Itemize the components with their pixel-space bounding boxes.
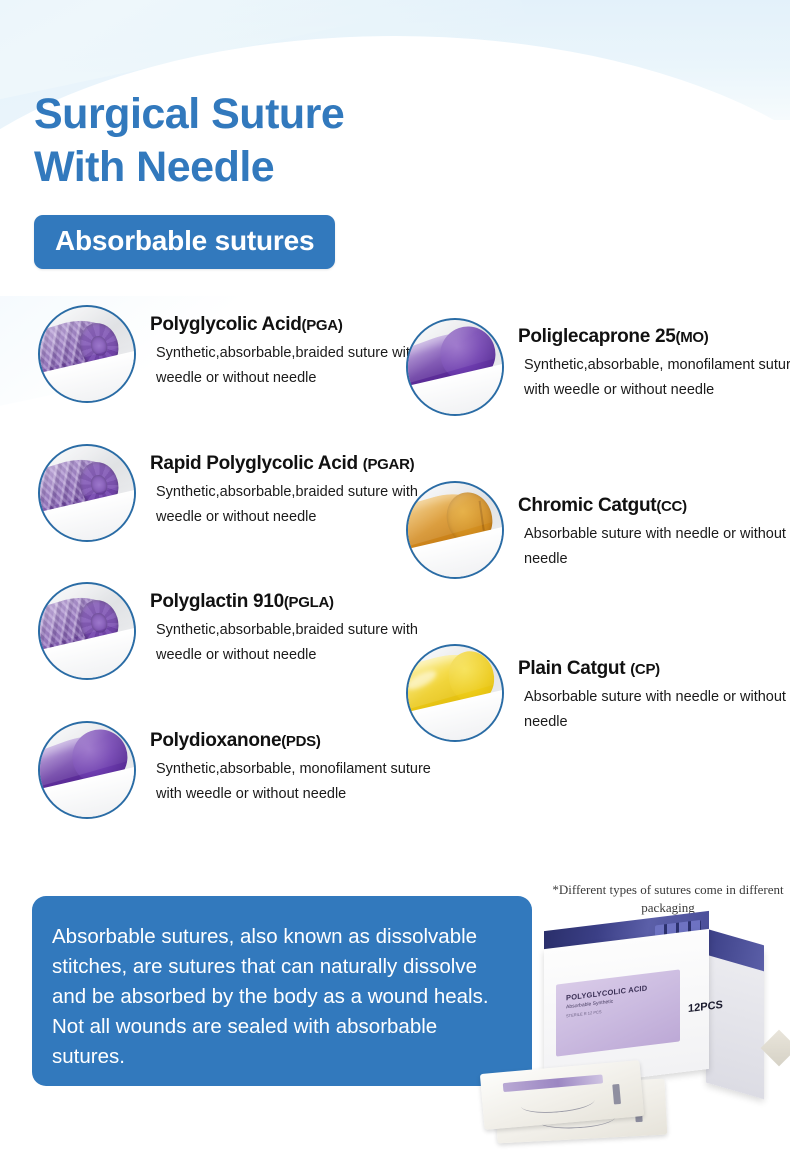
product-name: Chromic Catgut(CC) [518, 495, 687, 517]
page-title-line-2: With Needle [34, 141, 574, 194]
monofilament-purple-suture-icon [38, 721, 136, 819]
product-name: Rapid Polyglycolic Acid (PGAR) [150, 453, 414, 475]
product-description: Synthetic,absorbable,braided suture with… [156, 618, 456, 668]
summary-panel: Absorbable sutures, also known as dissol… [32, 896, 532, 1086]
page-title: Surgical Suture With Needle [34, 88, 574, 194]
plain-catgut-suture-icon [406, 644, 504, 742]
product-name: Polyglycolic Acid(PGA) [150, 314, 343, 336]
product-name: Plain Catgut (CP) [518, 658, 660, 680]
product-description: Synthetic,absorbable, monofilament sutur… [156, 757, 456, 807]
page-title-line-1: Surgical Suture [34, 88, 574, 141]
product-name: Poliglecaprone 25(MO) [518, 326, 708, 348]
product-name: Polydioxanone(PDS) [150, 730, 321, 752]
section-badge-absorbable-sutures: Absorbable sutures [34, 215, 335, 269]
product-description: Absorbable suture with needle or without… [524, 522, 790, 572]
monofilament-purple-suture-icon [406, 318, 504, 416]
infographic-page: Surgical Suture With Needle Absorbable s… [0, 0, 790, 1160]
box-label: POLYGLYCOLIC ACID Absorbable Synthetic S… [556, 969, 680, 1056]
braided-purple-suture-icon [38, 444, 136, 542]
box-label-details: STERILE R 12 PCS [566, 1009, 602, 1018]
product-description: Absorbable suture with needle or without… [524, 685, 790, 735]
page-corner-fold [761, 1030, 790, 1067]
product-description: Synthetic,absorbable, monofilament sutur… [524, 353, 790, 403]
packaging-photo: POLYGLYCOLIC ACID Absorbable Synthetic S… [470, 915, 790, 1150]
product-name: Polyglactin 910(PGLA) [150, 591, 334, 613]
packaging-caption: *Different types of sutures come in diff… [548, 881, 788, 917]
braided-purple-suture-icon [38, 305, 136, 403]
chromic-catgut-suture-icon [406, 481, 504, 579]
braided-purple-suture-icon [38, 582, 136, 680]
